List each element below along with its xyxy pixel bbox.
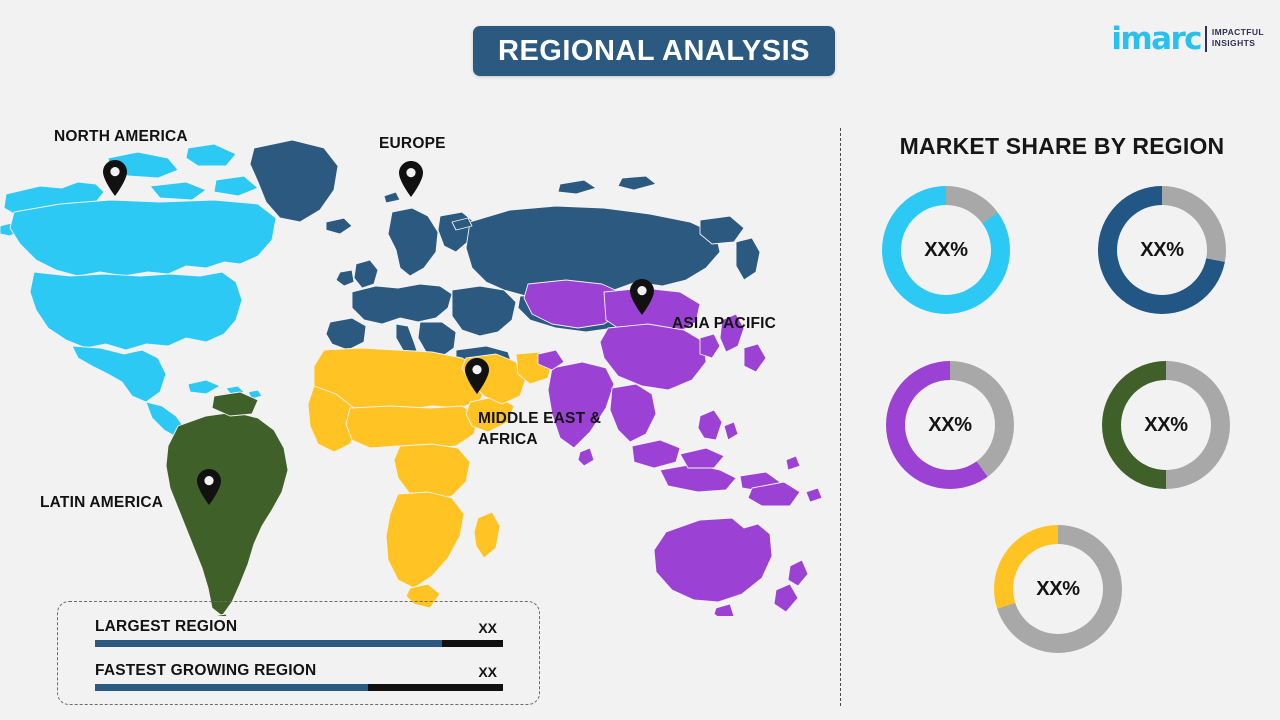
donut-value-label: XX%	[928, 414, 972, 437]
donut-chart-latin-america: XX%	[1102, 361, 1230, 489]
legend-progress-fill	[95, 640, 442, 647]
legend-value: XX	[478, 620, 503, 636]
donut-center: XX%	[905, 380, 995, 470]
legend-row-fastest-growing-region: FASTEST GROWING REGION XX	[95, 662, 503, 691]
map-label-north-america: NORTH AMERICA	[54, 126, 188, 147]
map-pin-icon[interactable]	[101, 159, 129, 197]
panel-divider	[840, 128, 841, 706]
donut-chart-asia-pacific: XX%	[886, 361, 1014, 489]
donut-value-label: XX%	[1144, 414, 1188, 437]
market-share-heading: MARKET SHARE BY REGION	[862, 133, 1262, 160]
map-label-middle-east-africa: MIDDLE EAST & AFRICA	[478, 408, 601, 450]
map-region-latin-america	[166, 392, 288, 616]
donut-chart-north-america: XX%	[882, 186, 1010, 314]
legend-value: XX	[478, 664, 503, 680]
legend-label: LARGEST REGION	[95, 618, 237, 636]
logo-wordmark: imarc	[1111, 24, 1201, 54]
map-region-middle-east-africa	[308, 348, 552, 608]
donut-value-label: XX%	[1036, 578, 1080, 601]
map-label-latin-america: LATIN AMERICA	[40, 492, 163, 513]
regional-analysis-infographic: REGIONAL ANALYSIS imarc IMPACTFUL INSIGH…	[0, 0, 1280, 720]
map-pin-icon[interactable]	[463, 357, 491, 395]
donut-chart-middle-east-africa: XX%	[994, 525, 1122, 653]
donut-center: XX%	[1121, 380, 1211, 470]
market-share-donut-group: XX% XX% XX% XX% XX%	[852, 178, 1270, 678]
donut-value-label: XX%	[1140, 239, 1184, 262]
logo-tagline: IMPACTFUL INSIGHTS	[1212, 24, 1264, 49]
map-pin-icon[interactable]	[397, 160, 425, 198]
imarc-logo: imarc IMPACTFUL INSIGHTS	[1111, 24, 1264, 54]
logo-tagline-line2: INSIGHTS	[1212, 38, 1255, 48]
map-pin-icon[interactable]	[628, 278, 656, 316]
region-summary-box: LARGEST REGION XX FASTEST GROWING REGION…	[57, 601, 540, 705]
donut-center: XX%	[901, 205, 991, 295]
map-label-asia-pacific: ASIA PACIFIC	[672, 313, 776, 334]
logo-tagline-line1: IMPACTFUL	[1212, 27, 1264, 37]
legend-progress-fill	[95, 684, 368, 691]
donut-value-label: XX%	[924, 239, 968, 262]
legend-label: FASTEST GROWING REGION	[95, 662, 316, 680]
page-title: REGIONAL ANALYSIS	[498, 35, 810, 68]
map-pin-icon[interactable]	[195, 468, 223, 506]
legend-progress-track	[95, 640, 503, 647]
legend-progress-track	[95, 684, 503, 691]
donut-center: XX%	[1013, 544, 1103, 634]
donut-chart-europe: XX%	[1098, 186, 1226, 314]
logo-divider	[1205, 26, 1207, 52]
donut-center: XX%	[1117, 205, 1207, 295]
map-label-europe: EUROPE	[379, 133, 446, 154]
page-title-banner: REGIONAL ANALYSIS	[473, 26, 835, 76]
legend-row-largest-region: LARGEST REGION XX	[95, 618, 503, 647]
